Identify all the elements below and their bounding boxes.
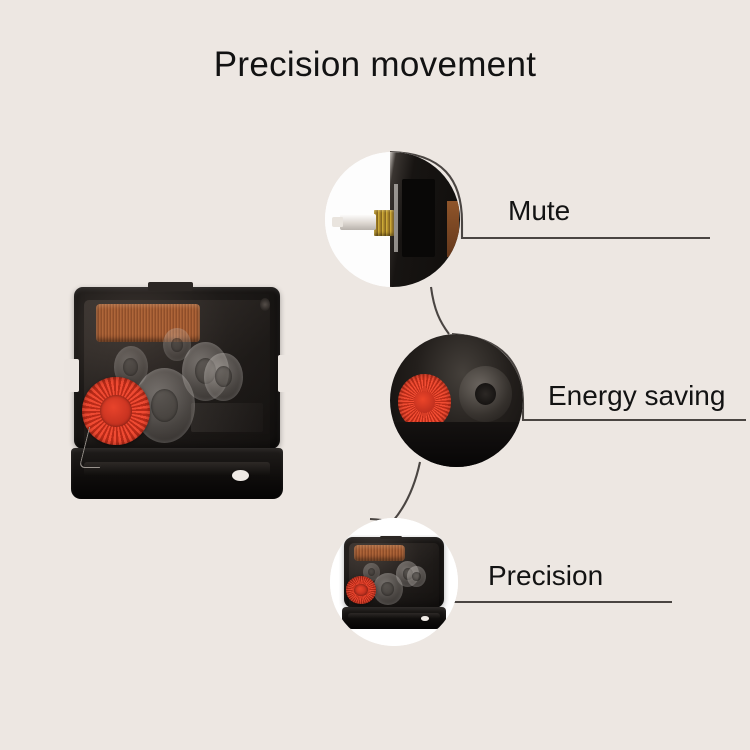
brass-threaded-shaft — [374, 210, 394, 236]
white-shaft-body — [340, 214, 376, 230]
housing-lower-ledge — [390, 422, 523, 467]
coil-edge — [447, 201, 458, 258]
housing-notch-left — [64, 359, 79, 392]
mini-housing — [339, 535, 449, 630]
base-mounting-hole — [232, 470, 249, 481]
body-step — [402, 179, 434, 257]
mini-base-hole — [421, 616, 429, 621]
page-title: Precision movement — [0, 46, 750, 85]
hub-gear-closeup — [459, 366, 512, 422]
movement-screw — [260, 298, 270, 311]
mini-red-wheel — [346, 576, 377, 603]
callout-label-precision: Precision — [488, 562, 603, 590]
movement-miniature — [339, 535, 449, 630]
mini-top-clip — [380, 536, 402, 540]
product-main-image — [64, 280, 290, 500]
body-slit — [394, 184, 398, 252]
gear-small-right — [204, 353, 242, 401]
gear-closeup-scene — [390, 334, 523, 467]
callout-label-energy-saving: Energy saving — [548, 382, 725, 410]
connector-mute-to-energy — [431, 287, 449, 334]
embossed-marking — [191, 403, 263, 432]
detail-circle-mute — [325, 152, 460, 287]
detail-circle-precision — [330, 518, 458, 646]
infographic-canvas: Precision movement — [0, 0, 750, 750]
movement-top-clip — [148, 282, 193, 291]
mini-base — [342, 607, 445, 629]
mini-copper-coil — [354, 545, 405, 561]
callout-label-mute: Mute — [508, 197, 570, 225]
movement-housing — [64, 280, 290, 500]
housing-notch-right — [278, 355, 290, 392]
movement-side-body — [390, 152, 460, 287]
connector-energy-to-precision — [393, 462, 420, 521]
shaft-scene — [325, 152, 460, 287]
mini-gear-center — [373, 573, 403, 605]
mini-gear-small-right — [407, 566, 426, 587]
white-shaft-tip — [332, 217, 343, 226]
detail-circle-energy-saving — [390, 334, 523, 467]
